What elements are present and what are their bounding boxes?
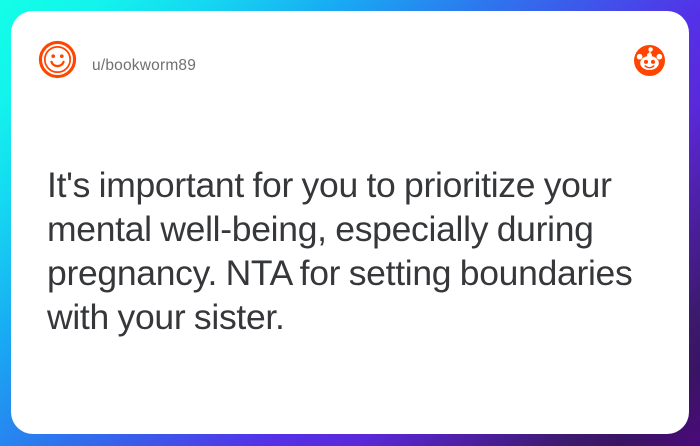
username-label: u/bookworm89 [92,57,196,75]
smiley-face-icon [38,40,77,79]
quote-card: u/bookworm89 It's important for you to p… [11,11,689,434]
quote-body: It's important for you to prioritize you… [47,163,667,339]
card-header: u/bookworm89 [11,11,689,97]
gradient-background: u/bookworm89 It's important for you to p… [0,0,700,446]
quote-text: It's important for you to prioritize you… [47,163,667,339]
reddit-logo-icon[interactable] [634,45,665,76]
